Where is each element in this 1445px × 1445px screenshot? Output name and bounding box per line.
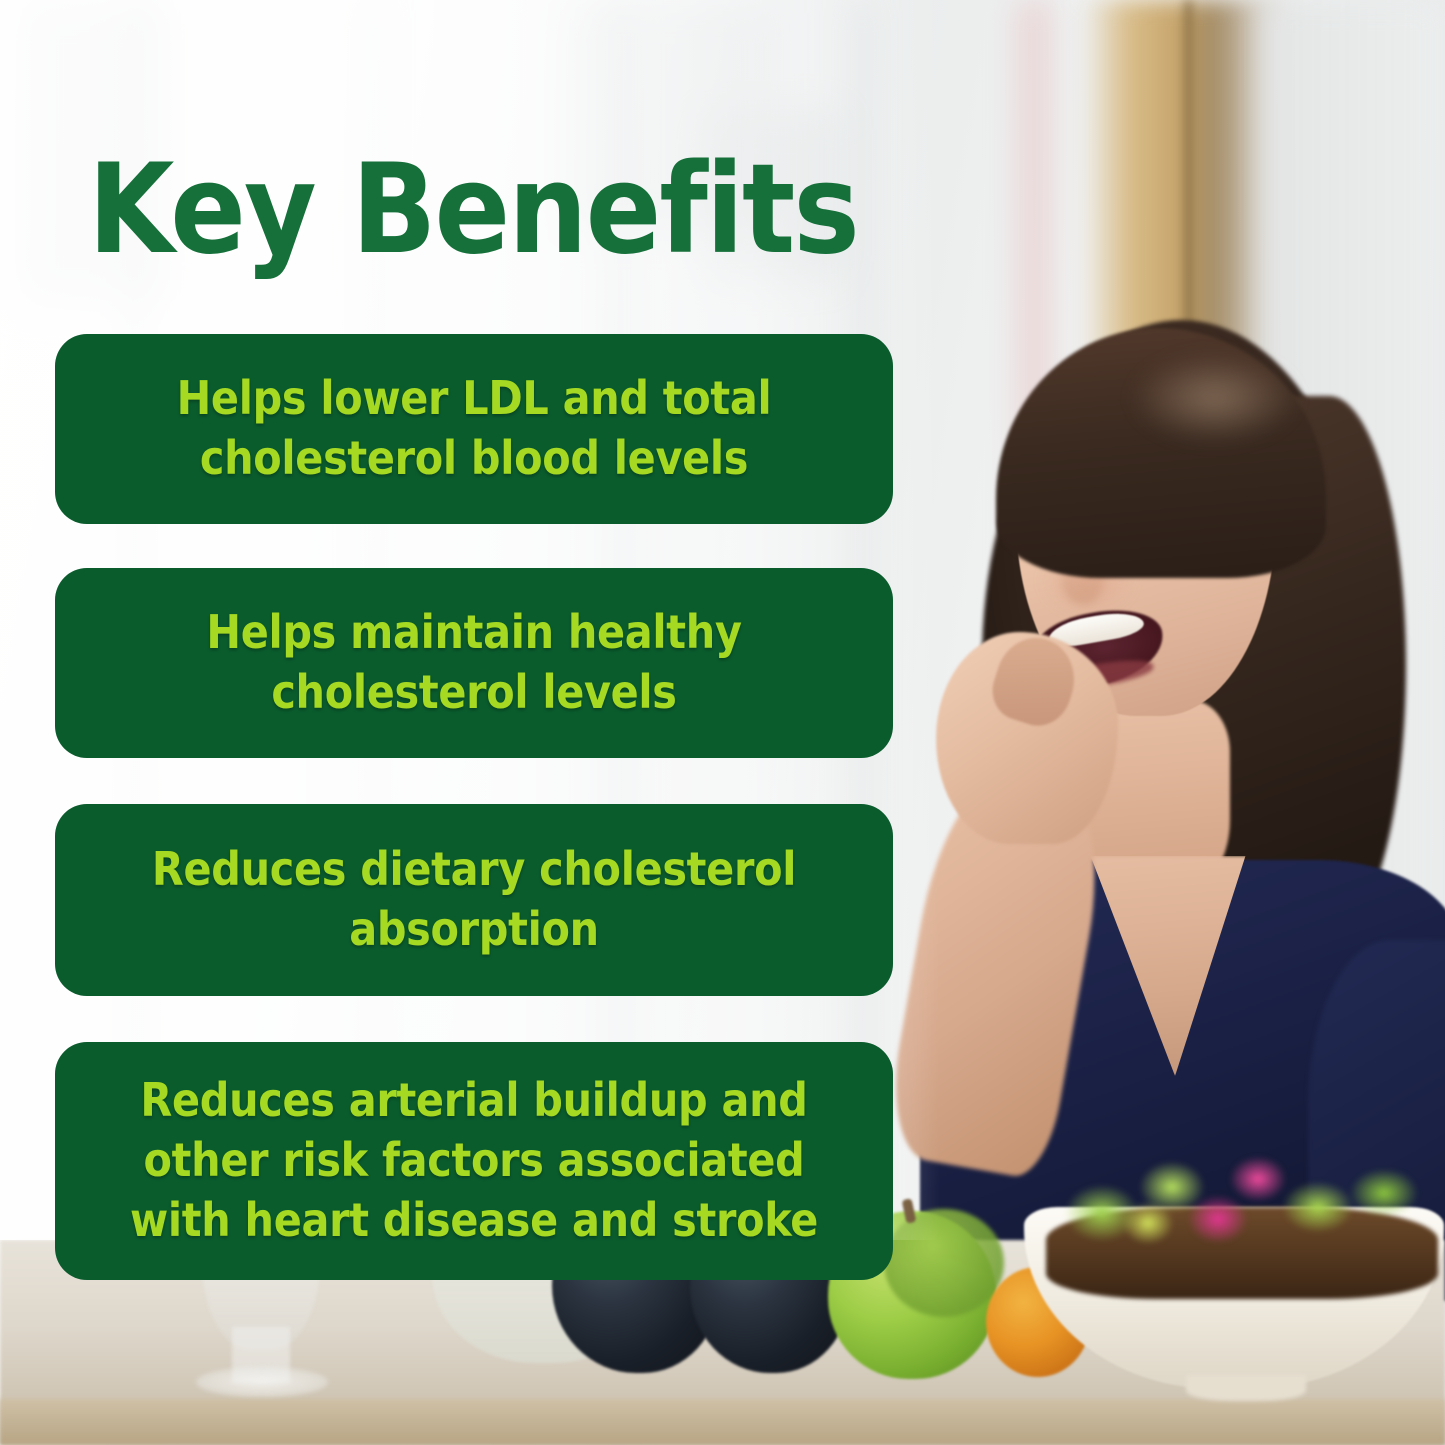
page-title: Key Benefits [88, 148, 858, 272]
benefit-card-3: Reduces dietary cholesterol absorption [55, 804, 893, 996]
content-layer: Key Benefits Helps lower LDL and total c… [0, 0, 1445, 1445]
benefit-text-1: Helps lower LDL and total cholesterol bl… [89, 369, 859, 489]
benefit-card-4: Reduces arterial buildup and other risk … [55, 1042, 893, 1280]
benefit-card-2: Helps maintain healthy cholesterol level… [55, 568, 893, 758]
benefit-text-3: Reduces dietary cholesterol absorption [89, 840, 859, 960]
benefit-text-2: Helps maintain healthy cholesterol level… [89, 603, 859, 723]
benefit-card-1: Helps lower LDL and total cholesterol bl… [55, 334, 893, 524]
benefit-text-4: Reduces arterial buildup and other risk … [89, 1071, 859, 1250]
infographic-canvas: Key Benefits Helps lower LDL and total c… [0, 0, 1445, 1445]
